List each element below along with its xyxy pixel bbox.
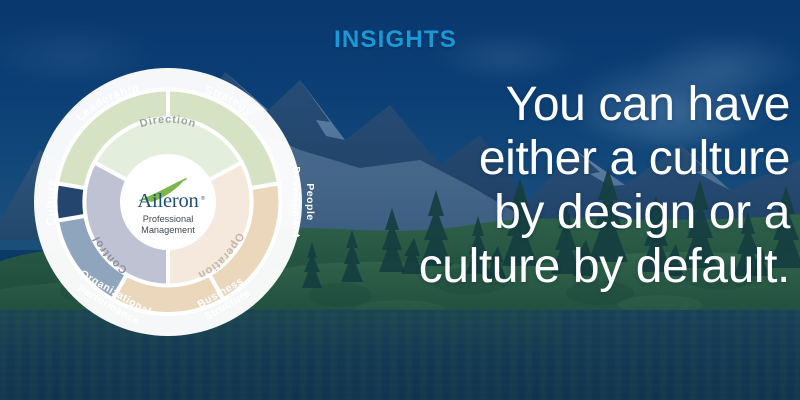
insights-eyebrow-label: INSIGHTS (334, 26, 457, 54)
aileron-trademark-symbol: ® (201, 195, 205, 202)
headline-line-4: culture by default. (350, 240, 790, 294)
people-dev-word-2: Development (290, 166, 302, 237)
svg-text:People: People (304, 183, 316, 220)
headline-line-3: by design or a (350, 186, 790, 240)
headline-line-1: You can have (350, 78, 790, 132)
svg-text:Development: Development (290, 166, 302, 237)
aileron-tagline-line-2: Management (141, 225, 195, 235)
aileron-wordmark: Aileron (137, 190, 198, 212)
wheel-label-culture: Culture (44, 178, 58, 226)
aileron-tagline-line-1: Professional (143, 214, 194, 224)
headline-line-2: either a culture (350, 132, 790, 186)
people-dev-word-1: People (304, 183, 316, 220)
headline-quote: You can have either a culture by design … (350, 78, 790, 294)
aileron-professional-management-wheel: Leadership Strategy People Development B… (28, 62, 308, 342)
